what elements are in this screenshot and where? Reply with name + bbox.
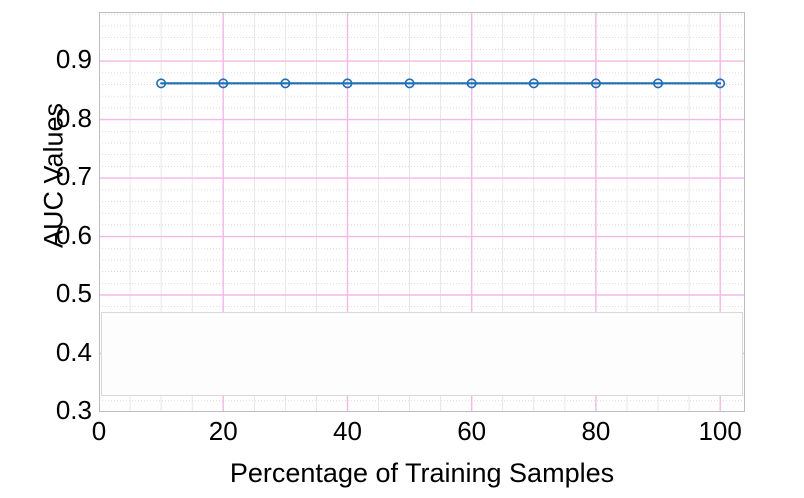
- chart-figure: AUC Values Percentage of Training Sample…: [0, 0, 804, 498]
- y-tick-label: 0.6: [10, 220, 92, 251]
- x-tick-label: 60: [437, 416, 507, 447]
- x-tick-label: 100: [685, 416, 755, 447]
- y-tick-label: 0.8: [10, 103, 92, 134]
- y-tick-label: 0.5: [10, 278, 92, 309]
- legend-row-1: [106, 315, 738, 355]
- x-tick-label: 40: [312, 416, 382, 447]
- x-tick-label: 0: [64, 416, 134, 447]
- y-tick-label: 0.7: [10, 161, 92, 192]
- x-tick-label: 20: [188, 416, 258, 447]
- chart-legend: [101, 312, 743, 396]
- x-axis-label: Percentage of Training Samples: [99, 458, 745, 489]
- x-tick-label: 80: [561, 416, 631, 447]
- y-tick-label: 0.9: [10, 44, 92, 75]
- y-tick-label: 0.4: [10, 337, 92, 368]
- legend-row-2: [106, 355, 738, 395]
